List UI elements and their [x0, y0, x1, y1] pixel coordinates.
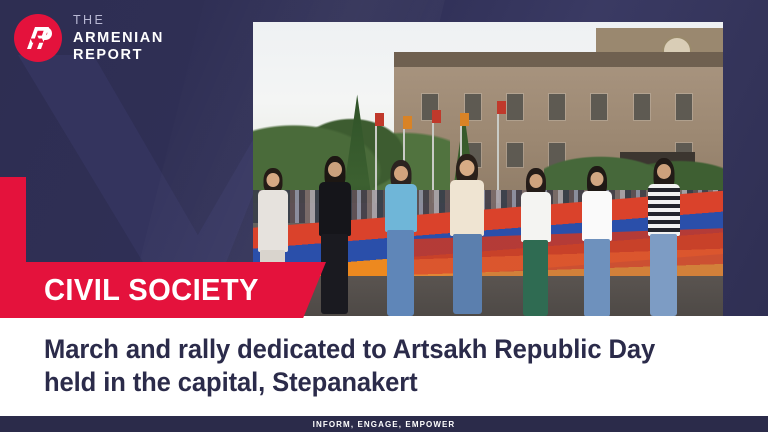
pole-flag	[497, 101, 506, 114]
marcher	[582, 166, 612, 318]
building-cornice	[394, 52, 723, 67]
building-window	[634, 94, 650, 120]
pole-flag	[403, 116, 412, 129]
building-window	[507, 143, 523, 167]
brand-the-label: THE	[73, 14, 164, 27]
category-label: CIVIL SOCIETY	[44, 272, 259, 308]
marcher	[521, 168, 551, 318]
marcher	[385, 160, 417, 318]
marcher	[319, 156, 351, 318]
headline-text: March and rally dedicated to Artsakh Rep…	[44, 333, 655, 399]
pole-flag	[375, 113, 384, 126]
building-window	[591, 94, 607, 120]
brand-wordmark: THE ARMENIAN REPORT	[73, 13, 164, 64]
building-window	[676, 94, 692, 120]
ar-monogram-icon	[14, 14, 62, 62]
brand-lockup[interactable]: THE ARMENIAN REPORT	[14, 13, 164, 64]
building-window	[549, 94, 565, 120]
photo-scene	[253, 22, 723, 324]
marcher	[450, 154, 484, 318]
tagline-text: INFORM, ENGAGE, EMPOWER	[313, 420, 456, 429]
pole-flag	[460, 113, 469, 126]
footer-bar: INFORM, ENGAGE, EMPOWER	[0, 416, 768, 432]
pole-flag	[432, 110, 441, 123]
building-window	[507, 94, 523, 120]
headline-container: March and rally dedicated to Artsakh Rep…	[0, 316, 768, 416]
news-card: THE ARMENIAN REPORT	[0, 0, 768, 432]
marcher	[648, 158, 680, 318]
category-badge[interactable]: CIVIL SOCIETY	[0, 262, 326, 318]
brand-name-label: ARMENIAN REPORT	[73, 30, 164, 64]
article-photo	[253, 22, 723, 324]
